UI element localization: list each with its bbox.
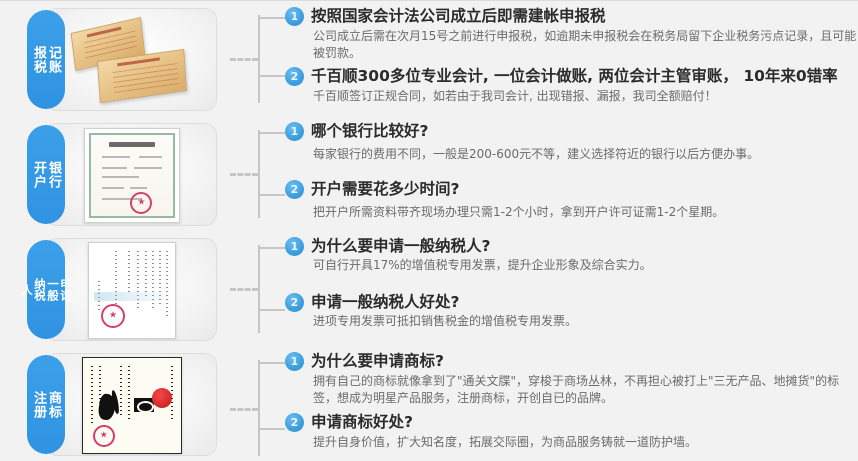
item-texts: 开户需要花多少时间? 把开户所需资料带齐现场办理只需1-2个小时，拿到开户许可证…	[311, 179, 858, 221]
item-texts: 为什么要申请商标? 拥有自己的商标就像拿到了"通关文牒"，穿梭于商场丛林，不再担…	[311, 351, 858, 407]
bank-permit-document-icon	[84, 128, 180, 223]
accounting-envelopes-photo	[46, 9, 216, 110]
category-tab-label: 银行 开户	[31, 161, 61, 189]
faq-item[interactable]: 2 申请一般纳税人好处? 进项专用发票可抵扣销售税金的增值税专用发票。	[285, 292, 858, 330]
connector-dashed-line	[230, 58, 258, 61]
item-number-badge: 2	[285, 293, 304, 312]
section-bank-account: 银行 开户 1 哪个银行比较好? 每家银行的费用不同，一般是200-600元不等…	[0, 116, 858, 231]
faq-item-list: 1 为什么要申请一般纳税人? 可自行开具17%的增值税专用发票，提升企业形象及综…	[285, 231, 858, 336]
section-general-taxpayer: 申请 一般 纳税 人 1 为什么要申请一般纳税人? 可自行开具17%的增值税专用…	[0, 231, 858, 346]
item-body: 把开户所需资料带齐现场办理只需1-2个小时，拿到开户许可证需1-2个星期。	[311, 204, 858, 221]
category-tab-bank-account[interactable]: 银行 开户	[27, 125, 65, 224]
item-texts: 按照国家会计法公司成立后即需建帐申报税 公司成立后需在次月15号之前进行申报税，…	[311, 6, 858, 62]
category-tab-trademark[interactable]: 商标 注册	[27, 355, 65, 454]
faq-item[interactable]: 1 按照国家会计法公司成立后即需建帐申报税 公司成立后需在次月15号之前进行申报…	[285, 6, 858, 62]
category-tab-general-taxpayer[interactable]: 申请 一般 纳税 人	[27, 240, 65, 339]
faq-item-list: 1 按照国家会计法公司成立后即需建帐申报税 公司成立后需在次月15号之前进行申报…	[285, 1, 858, 111]
faq-item[interactable]: 2 申请商标好处? 提升自身价值，扩大知名度，拓展交际圈，为商品服务铸就一道防护…	[285, 412, 858, 451]
item-body: 千百顺签订正规合同，如若由于我司会计, 出现错报、漏报，我司全额赔付！	[311, 88, 858, 105]
connector-vertical-line	[258, 360, 260, 456]
trademark-document-icon	[82, 357, 182, 454]
connector-branch-1	[260, 132, 285, 134]
left-visual-block: 申请 一般 纳税 人	[0, 238, 230, 343]
left-visual-block: 银行 开户	[0, 123, 230, 228]
faq-item[interactable]: 2 千百顺300多位专业会计, 一位会计做账, 两位会计主管审账， 10年来0错…	[285, 66, 858, 105]
connector-branch-1	[260, 17, 285, 19]
item-title: 为什么要申请一般纳税人?	[311, 236, 858, 256]
faq-item[interactable]: 1 为什么要申请商标? 拥有自己的商标就像拿到了"通关文牒"，穿梭于商场丛林，不…	[285, 351, 858, 407]
faq-item[interactable]: 1 哪个银行比较好? 每家银行的费用不同，一般是200-600元不等，建义选择符…	[285, 121, 858, 163]
item-title: 申请一般纳税人好处?	[311, 292, 858, 312]
connector-branch-2	[260, 194, 285, 196]
faq-item[interactable]: 1 为什么要申请一般纳税人? 可自行开具17%的增值税专用发票，提升企业形象及综…	[285, 236, 858, 274]
item-body: 进项专用发票可抵扣销售税金的增值税专用发票。	[311, 313, 858, 330]
item-number-badge: 1	[285, 352, 304, 371]
connector-branch-2	[260, 309, 285, 311]
item-number-badge: 2	[285, 413, 304, 432]
service-faq-page: 记账 报税 1 按照国家会计法公司成立后即需建帐申报税 公司成立后需在次月15号…	[0, 0, 858, 461]
connector-lines	[230, 1, 285, 116]
connector-branch-2	[260, 75, 285, 77]
connector-branch-1	[260, 247, 285, 249]
category-tab-label: 记账 报税	[31, 46, 61, 74]
item-number-badge: 1	[285, 122, 304, 141]
item-title: 千百顺300多位专业会计, 一位会计做账, 两位会计主管审账， 10年来0错率	[311, 66, 858, 86]
connector-vertical-line	[258, 15, 260, 103]
connector-vertical-line	[258, 130, 260, 218]
left-visual-block: 记账 报税	[0, 8, 230, 113]
faq-item-list: 1 为什么要申请商标? 拥有自己的商标就像拿到了"通关文牒"，穿梭于商场丛林，不…	[285, 346, 858, 457]
connector-branch-1	[260, 362, 285, 364]
connector-dashed-line	[230, 408, 258, 411]
faq-item-list: 1 哪个银行比较好? 每家银行的费用不同，一般是200-600元不等，建义选择符…	[285, 116, 858, 227]
item-title: 申请商标好处?	[311, 412, 858, 432]
item-title: 哪个银行比较好?	[311, 121, 858, 141]
item-title: 按照国家会计法公司成立后即需建帐申报税	[311, 6, 858, 26]
connector-lines	[230, 231, 285, 346]
item-body: 可自行开具17%的增值税专用发票，提升企业形象及综合实力。	[311, 257, 858, 274]
connector-lines	[230, 346, 285, 461]
trademark-certificate-photo	[46, 354, 216, 455]
item-body: 每家银行的费用不同，一般是200-600元不等，建义选择符近的银行以后方便办事。	[311, 146, 858, 163]
item-title: 为什么要申请商标?	[311, 351, 858, 371]
connector-lines	[230, 116, 285, 231]
item-texts: 为什么要申请一般纳税人? 可自行开具17%的增值税专用发票，提升企业形象及综合实…	[311, 236, 858, 274]
item-number-badge: 2	[285, 180, 304, 199]
item-texts: 哪个银行比较好? 每家银行的费用不同，一般是200-600元不等，建义选择符近的…	[311, 121, 858, 163]
service-image-card	[45, 353, 217, 456]
item-number-badge: 1	[285, 7, 304, 26]
item-texts: 申请一般纳税人好处? 进项专用发票可抵扣销售税金的增值税专用发票。	[311, 292, 858, 330]
item-texts: 千百顺300多位专业会计, 一位会计做账, 两位会计主管审账， 10年来0错率 …	[311, 66, 858, 105]
item-texts: 申请商标好处? 提升自身价值，扩大知名度，拓展交际圈，为商品服务铸就一道防护墙。	[311, 412, 858, 451]
taxpayer-document-icon	[88, 242, 176, 339]
service-image-card	[45, 8, 217, 111]
left-visual-block: 商标 注册	[0, 353, 230, 458]
connector-branch-2	[260, 428, 285, 430]
item-body: 拥有自己的商标就像拿到了"通关文牒"，穿梭于商场丛林，不再担心被打上"三无产品、…	[311, 373, 858, 407]
item-body: 提升自身价值，扩大知名度，拓展交际圈，为商品服务铸就一道防护墙。	[311, 434, 858, 451]
service-image-card	[45, 123, 217, 226]
bank-account-permit-photo	[46, 124, 216, 225]
section-trademark: 商标 注册 1 为什么要申请商标? 拥有自己的商标就像拿到了"通关文牒"，穿梭于…	[0, 346, 858, 461]
faq-item[interactable]: 2 开户需要花多少时间? 把开户所需资料带齐现场办理只需1-2个小时，拿到开户许…	[285, 179, 858, 221]
item-title: 开户需要花多少时间?	[311, 179, 858, 199]
connector-vertical-line	[258, 245, 260, 333]
category-tab-label: 商标 注册	[31, 391, 61, 419]
item-number-badge: 2	[285, 67, 304, 86]
connector-dashed-line	[230, 288, 258, 291]
section-accounting: 记账 报税 1 按照国家会计法公司成立后即需建帐申报税 公司成立后需在次月15号…	[0, 1, 858, 116]
item-number-badge: 1	[285, 237, 304, 256]
category-tab-label: 申请 一般 纳税 人	[20, 278, 72, 301]
item-body: 公司成立后需在次月15号之前进行申报税，如逾期未申报税会在税务局留下企业税务污点…	[311, 28, 858, 62]
category-tab-accounting[interactable]: 记账 报税	[27, 10, 65, 109]
connector-dashed-line	[230, 173, 258, 176]
